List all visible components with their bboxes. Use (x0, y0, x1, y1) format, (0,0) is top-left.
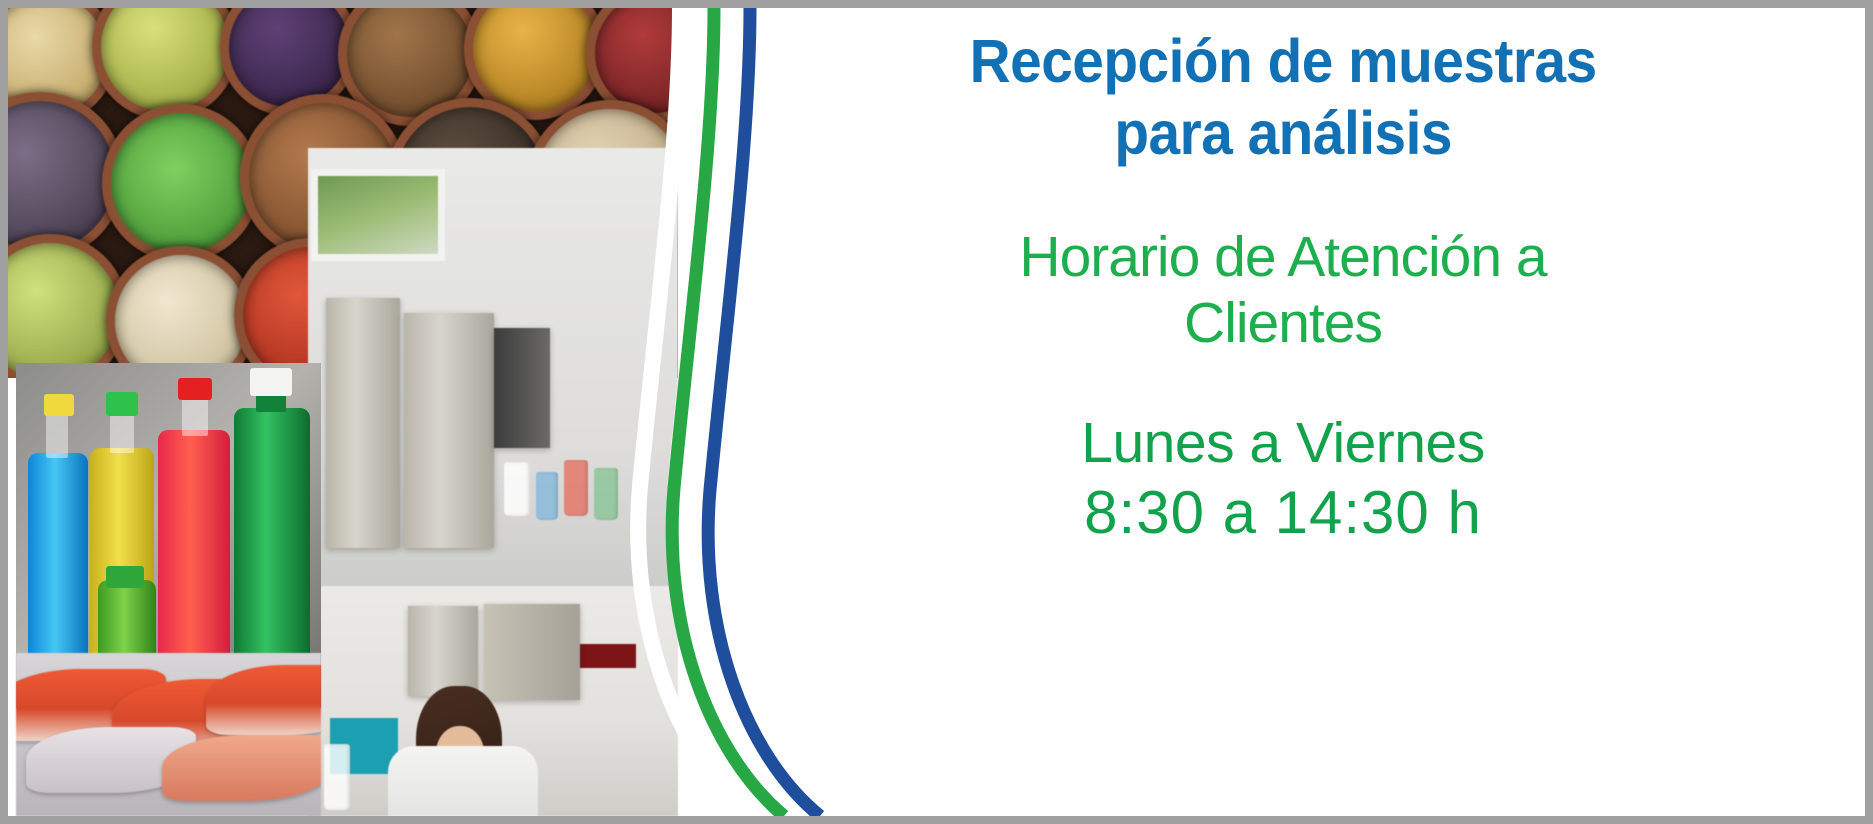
promotional-banner: Recepción de muestras para análisis Hora… (0, 0, 1873, 824)
lab-technician-coat (388, 746, 538, 816)
service-hours-heading: Horario de Atención a Clientes (1019, 224, 1546, 356)
text-panel: Recepción de muestras para análisis Hora… (868, 8, 1698, 816)
fish-on-ice-photo (16, 653, 321, 816)
blue-swoosh-curve (708, 8, 820, 816)
lab-window (318, 176, 438, 254)
hours-days-label: Lunes a Viernes (1081, 412, 1484, 475)
hours-time-label: 8:30 a 14:30 h (1084, 479, 1482, 546)
page-title: Recepción de muestras para análisis (969, 26, 1596, 170)
image-collage (8, 8, 828, 816)
laboratory-photo (308, 148, 678, 816)
